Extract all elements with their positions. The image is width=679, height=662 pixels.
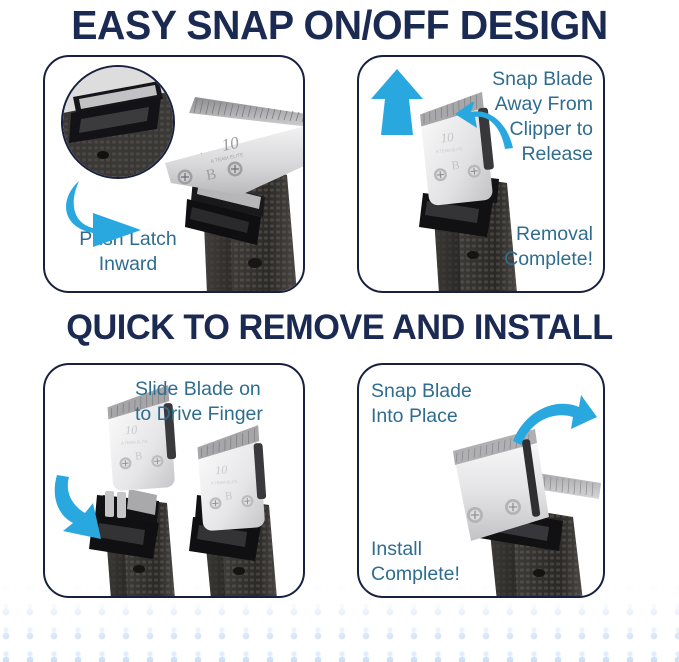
snap-curve-arrow-icon xyxy=(455,102,515,152)
slide-down-arrow-icon xyxy=(53,473,111,541)
latch-closeup-inset xyxy=(61,65,175,179)
push-latch-arrow-icon xyxy=(63,175,155,247)
page-title-top: EASY SNAP ON/OFF DESIGN xyxy=(14,2,666,48)
install-arrow-icon xyxy=(511,395,597,457)
svg-text:B: B xyxy=(225,490,233,502)
caption-snap-blade-into-place: Snap Blade Into Place xyxy=(371,379,511,429)
snap-up-arrow-icon xyxy=(371,69,423,135)
panel-push-latch: 10 A TEAM ELITE B Push Latch Inward xyxy=(43,55,305,293)
caption-install-complete: Install Complete! xyxy=(371,537,511,587)
caption-removal-complete: Removal Complete! xyxy=(451,222,593,272)
panel-slide-blade: 10 A TEAM ELITE B xyxy=(43,363,305,598)
latch-closeup-image xyxy=(63,67,173,177)
page-title-middle: QUICK TO REMOVE AND INSTALL xyxy=(7,308,672,348)
panel-snap-away: 10 A TEAM ELITE B Snap Blade Away From C… xyxy=(357,55,605,293)
svg-text:B: B xyxy=(135,450,143,462)
panel-snap-install: Snap Blade Into Place Install Complete! xyxy=(357,363,605,598)
svg-text:10: 10 xyxy=(220,133,241,155)
svg-text:10: 10 xyxy=(215,462,228,477)
caption-slide-blade: Slide Blade on to Drive Finger xyxy=(135,377,295,427)
